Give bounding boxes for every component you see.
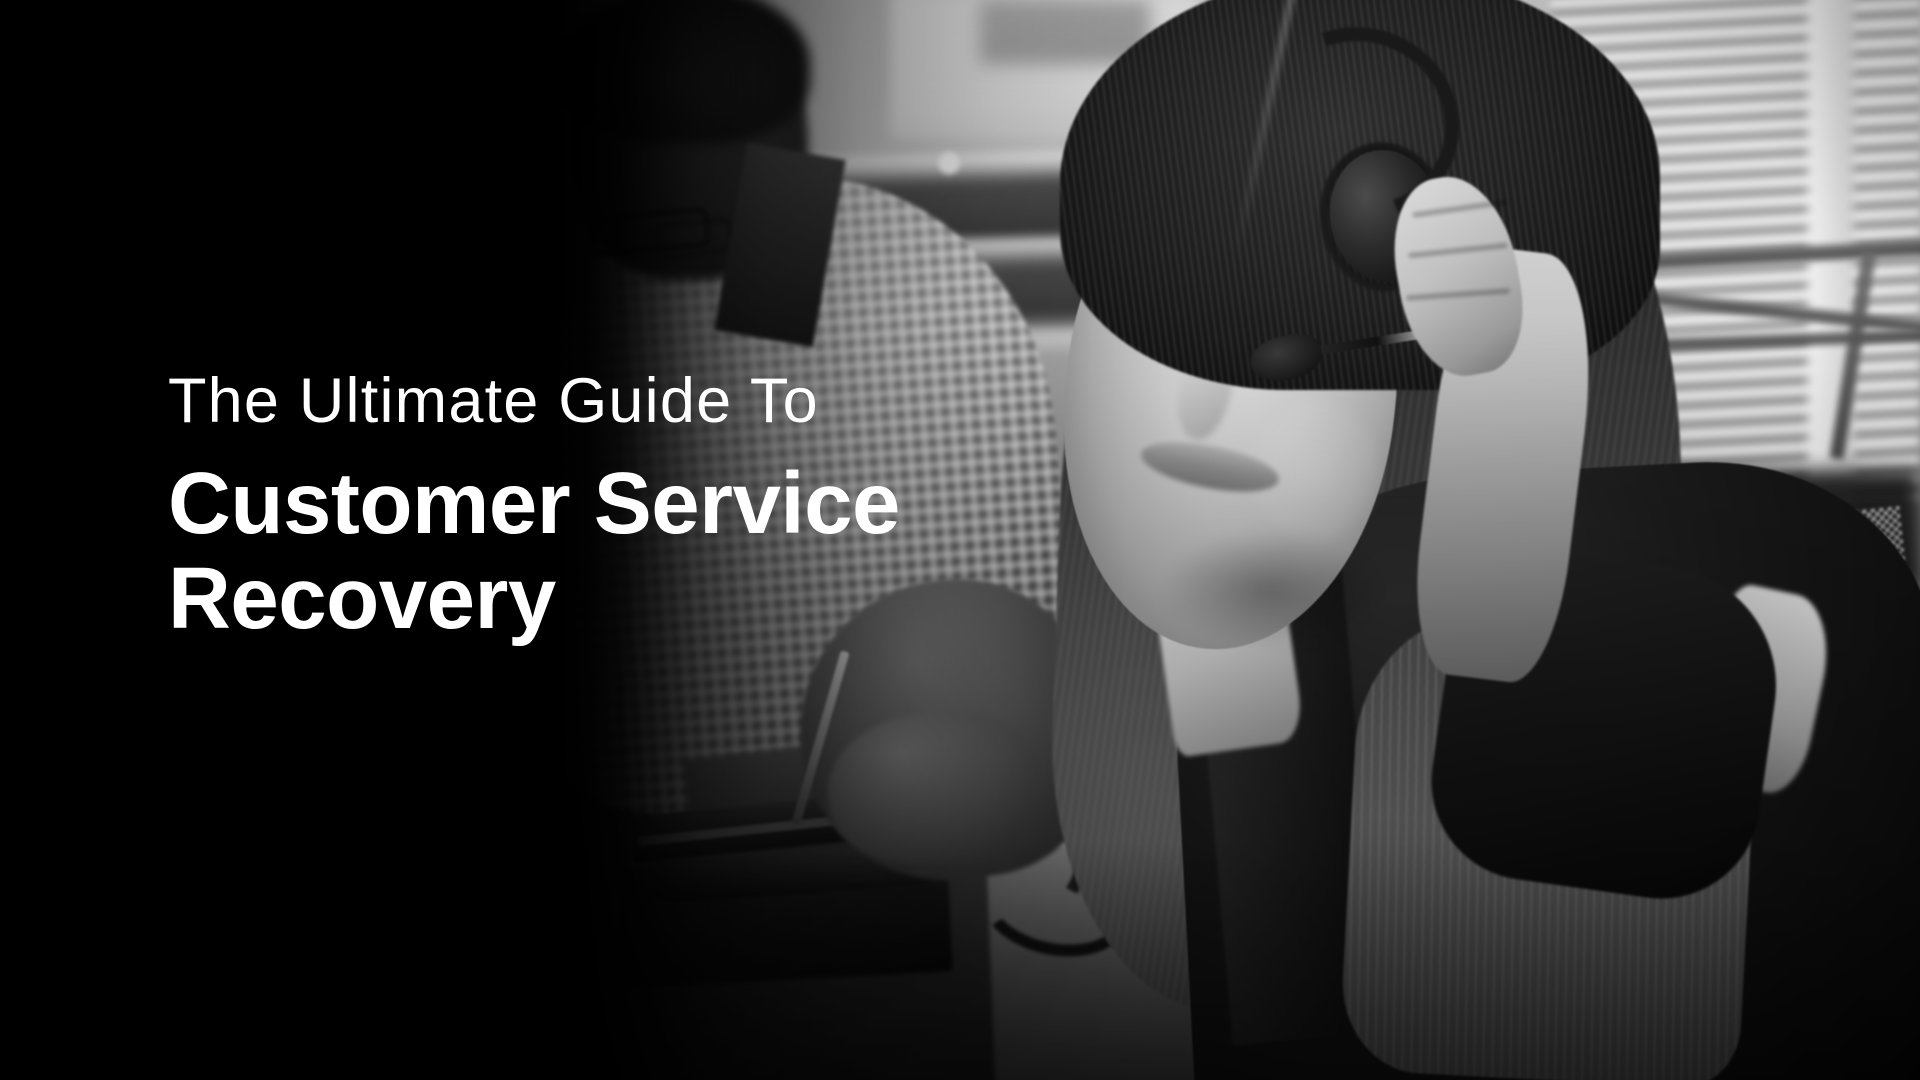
colleague-hair [560, 0, 810, 144]
headline-line-1: Customer Service [168, 457, 1288, 552]
headline-line-2: Recovery [168, 552, 1288, 647]
shelf-knob [938, 152, 960, 174]
hero-banner: The Ultimate Guide To Customer Service R… [0, 0, 1920, 1080]
eyebrow-text: The Ultimate Guide To [168, 370, 1288, 433]
hero-copy: The Ultimate Guide To Customer Service R… [168, 370, 1288, 647]
page-title: Customer Service Recovery [168, 457, 1288, 647]
